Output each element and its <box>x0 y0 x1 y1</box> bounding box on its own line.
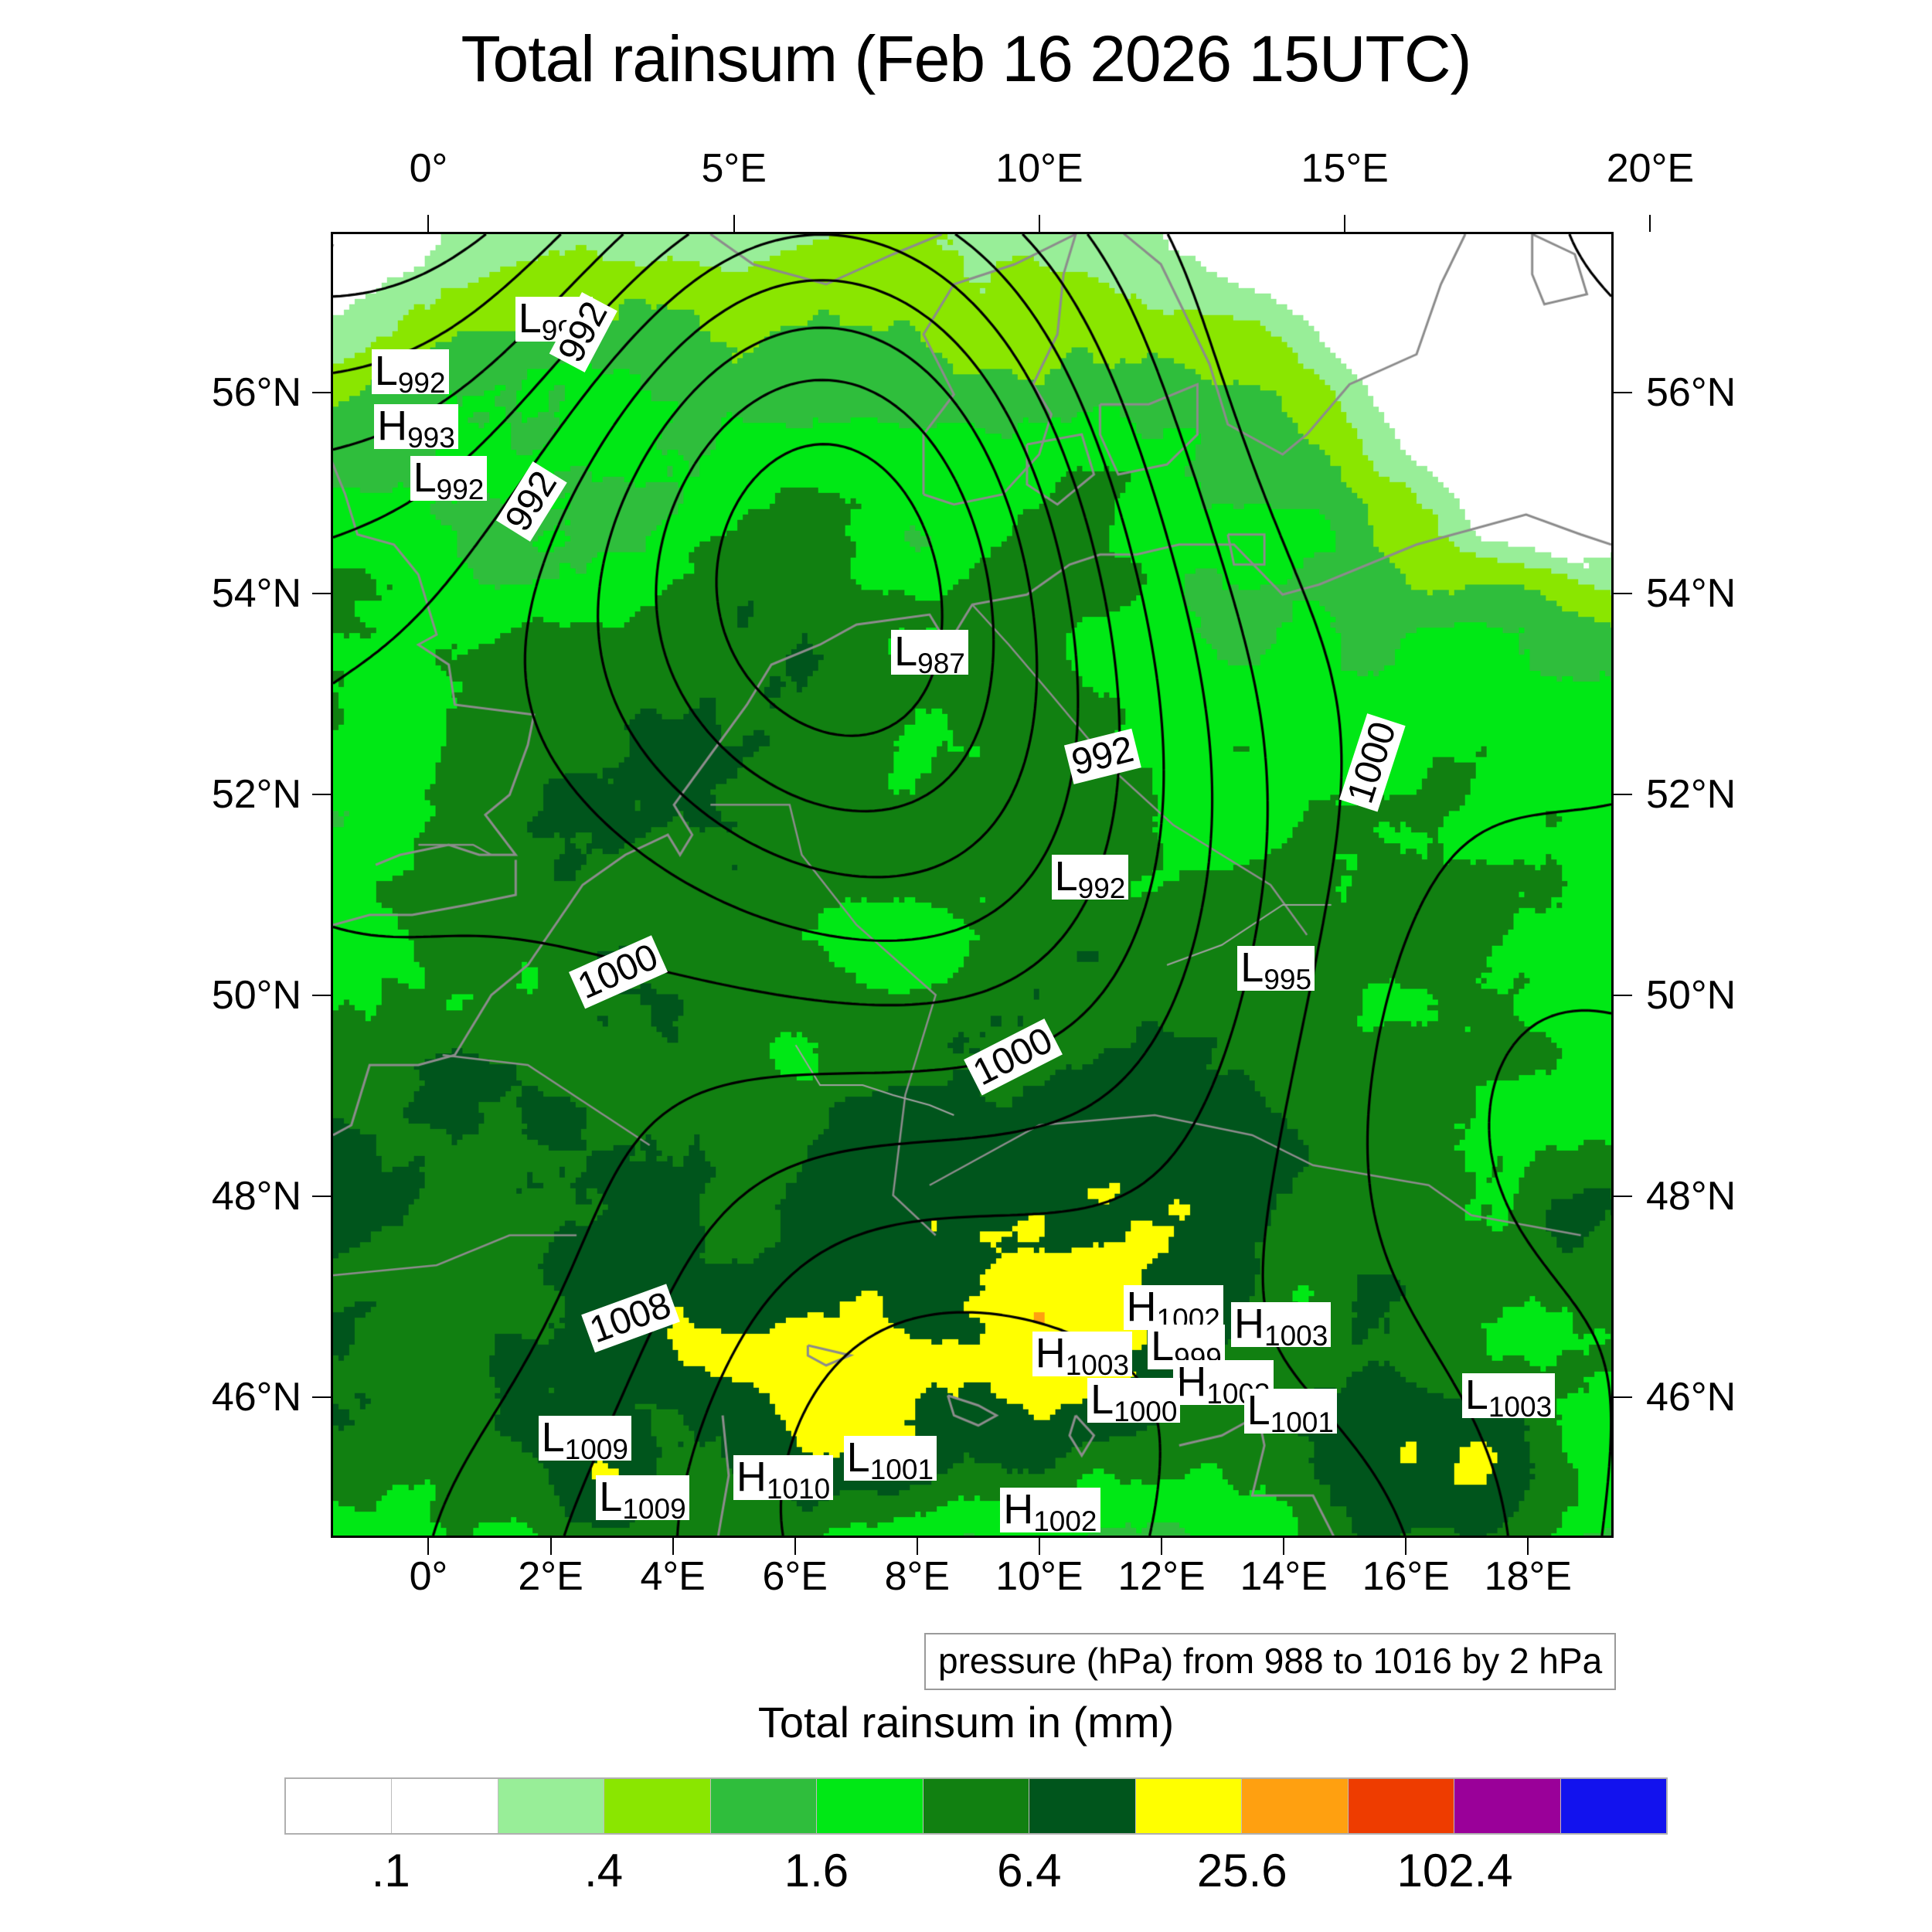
pressure-center-type: L <box>894 628 917 675</box>
axis-tick <box>312 995 331 996</box>
axis-left-label-3: 50°N <box>93 972 301 1019</box>
colorbar-label-102p4: 102.4 <box>1397 1844 1513 1897</box>
colorbar-title: Total rainsum in (mm) <box>0 1697 1932 1747</box>
axis-right-label-4: 48°N <box>1646 1173 1878 1219</box>
axis-tick <box>312 593 331 594</box>
pressure-center-type: L <box>1240 944 1264 991</box>
pressure-center-type: H <box>736 1454 767 1500</box>
axis-tick <box>312 794 331 795</box>
pressure-center-high-1003-b: H1003 <box>1032 1332 1132 1376</box>
axis-tick <box>1614 1196 1632 1197</box>
colorbar-segment-9[interactable] <box>1242 1779 1348 1833</box>
pressure-center-type: L <box>413 454 437 501</box>
axis-tick <box>312 1196 331 1197</box>
colorbar-segment-10[interactable] <box>1349 1779 1454 1833</box>
map-plot-area[interactable]: L992L992H993L992L987L992L995H1002L999H10… <box>331 232 1614 1538</box>
axis-bottom-label-2: 4°E <box>640 1553 705 1600</box>
pressure-center-type: L <box>1151 1323 1174 1369</box>
pressure-center-type: H <box>377 403 407 449</box>
axis-tick <box>1649 215 1651 232</box>
axis-tick <box>672 1538 674 1555</box>
axis-bottom-label-6: 12°E <box>1117 1553 1205 1600</box>
axis-tick <box>1614 1396 1632 1398</box>
colorbar-label-25p6: 25.6 <box>1197 1844 1287 1897</box>
pressure-center-low-987: L987 <box>891 630 968 675</box>
axis-right-label-3: 50°N <box>1646 972 1878 1019</box>
pressure-center-type: L <box>1090 1376 1114 1423</box>
pressure-center-value: 1003 <box>1488 1391 1552 1423</box>
pressure-center-low-992-b: L992 <box>372 349 449 394</box>
pressure-center-high-1010: H1010 <box>733 1455 833 1500</box>
pressure-center-value: 1010 <box>767 1473 830 1505</box>
axis-tick <box>312 392 331 393</box>
colorbar-segment-12[interactable] <box>1561 1779 1666 1833</box>
pressure-center-type: L <box>542 1414 565 1461</box>
axis-top-label-4: 20°E <box>1607 145 1694 192</box>
colorbar-segment-0[interactable] <box>286 1779 392 1833</box>
pressure-center-value: 993 <box>407 422 455 454</box>
pressure-center-value: 1003 <box>1264 1320 1328 1352</box>
colorbar-segment-11[interactable] <box>1454 1779 1560 1833</box>
axis-top-label-0: 0° <box>410 145 448 192</box>
axis-bottom-label-1: 2°E <box>518 1553 583 1600</box>
axis-tick <box>427 1538 429 1555</box>
axis-top-label-3: 15°E <box>1301 145 1389 192</box>
colorbar-segment-7[interactable] <box>1029 1779 1135 1833</box>
pressure-center-value: 1009 <box>622 1493 685 1525</box>
pressure-center-value: 992 <box>437 474 485 505</box>
axis-bottom-label-4: 8°E <box>885 1553 950 1600</box>
pressure-center-high-1002-b: H1002 <box>1000 1488 1100 1532</box>
axis-tick <box>1344 215 1345 232</box>
axis-left-label-2: 52°N <box>93 771 301 818</box>
pressure-center-low-1003: L1003 <box>1462 1373 1555 1418</box>
colorbar-segment-2[interactable] <box>498 1779 604 1833</box>
axis-bottom-label-8: 16°E <box>1362 1553 1450 1600</box>
axis-top-label-1: 5°E <box>702 145 767 192</box>
axis-right-label-1: 54°N <box>1646 570 1878 617</box>
colorbar-segment-1[interactable] <box>392 1779 498 1833</box>
pressure-center-type: L <box>1465 1372 1488 1418</box>
axis-top-label-2: 10°E <box>995 145 1083 192</box>
axis-bottom-label-0: 0° <box>410 1553 448 1600</box>
pressure-center-type: L <box>1055 853 1078 900</box>
axis-right-label-0: 56°N <box>1646 369 1878 416</box>
pressure-center-type: L <box>599 1474 622 1520</box>
colorbar-label-p1: .1 <box>372 1844 410 1897</box>
pressure-center-type: H <box>1176 1359 1206 1405</box>
pressure-center-low-992-c: L992 <box>410 456 488 501</box>
pressure-center-high-993: H993 <box>374 404 458 449</box>
axis-tick <box>427 215 429 232</box>
pressure-center-low-1000: L1000 <box>1087 1378 1180 1423</box>
pressure-center-low-1001-b: L1001 <box>844 1436 937 1481</box>
pressure-center-low-995: L995 <box>1237 946 1315 991</box>
colorbar-segment-3[interactable] <box>604 1779 710 1833</box>
pressure-center-low-1009-a: L1009 <box>539 1416 631 1461</box>
pressure-center-value: 1003 <box>1066 1349 1129 1381</box>
colorbar-label-6p4: 6.4 <box>997 1844 1061 1897</box>
axis-tick <box>1039 215 1040 232</box>
pressure-center-type: H <box>1234 1301 1264 1347</box>
colorbar-segment-6[interactable] <box>923 1779 1029 1833</box>
axis-tick <box>312 1396 331 1398</box>
pressure-center-value: 1001 <box>870 1454 934 1485</box>
axis-left-label-1: 54°N <box>93 570 301 617</box>
axis-tick <box>794 1538 796 1555</box>
pressure-center-low-1009-b: L1009 <box>596 1475 689 1520</box>
colorbar-label-1p6: 1.6 <box>784 1844 849 1897</box>
pressure-center-value: 1002 <box>1033 1505 1097 1537</box>
pressure-center-type: L <box>519 295 542 342</box>
axis-tick <box>550 1538 552 1555</box>
pressure-legend-box: pressure (hPa) from 988 to 1016 by 2 hPa <box>924 1633 1616 1690</box>
colorbar-label-p4: .4 <box>584 1844 623 1897</box>
pressure-center-value: 995 <box>1264 964 1311 995</box>
colorbar-segment-5[interactable] <box>817 1779 923 1833</box>
axis-left-label-0: 56°N <box>93 369 301 416</box>
pressure-center-value: 992 <box>398 367 446 399</box>
axis-tick <box>733 215 735 232</box>
axis-bottom-label-7: 14°E <box>1240 1553 1327 1600</box>
axis-tick <box>1614 593 1632 594</box>
axis-tick <box>1614 794 1632 795</box>
axis-bottom-label-5: 10°E <box>995 1553 1083 1600</box>
pressure-center-value: 1009 <box>565 1434 628 1465</box>
axis-tick <box>1283 1538 1284 1555</box>
axis-tick <box>1614 392 1632 393</box>
rainsum-heatmap-canvas <box>333 234 1611 1536</box>
axis-right-label-5: 46°N <box>1646 1374 1878 1420</box>
axis-tick <box>1527 1538 1529 1555</box>
pressure-center-value: 1001 <box>1270 1406 1334 1438</box>
page-title: Total rainsum (Feb 16 2026 15UTC) <box>0 22 1932 97</box>
pressure-center-type: L <box>1247 1387 1270 1434</box>
pressure-center-type: H <box>1003 1486 1033 1532</box>
pressure-center-low-992-d: L992 <box>1052 855 1129 900</box>
pressure-center-value: 1000 <box>1114 1396 1177 1427</box>
colorbar-segment-4[interactable] <box>711 1779 817 1833</box>
pressure-center-type: H <box>1036 1330 1066 1376</box>
axis-tick <box>1614 995 1632 996</box>
colorbar[interactable] <box>284 1777 1668 1835</box>
axis-bottom-label-3: 6°E <box>763 1553 828 1600</box>
axis-tick <box>1161 1538 1162 1555</box>
pressure-center-value: 992 <box>1078 872 1126 904</box>
axis-left-label-5: 46°N <box>93 1374 301 1420</box>
axis-tick <box>1039 1538 1040 1555</box>
pressure-center-type: L <box>375 348 398 394</box>
pressure-center-type: L <box>847 1434 870 1481</box>
pressure-center-low-1001-a: L1001 <box>1244 1389 1337 1434</box>
axis-tick <box>917 1538 918 1555</box>
colorbar-segment-8[interactable] <box>1136 1779 1242 1833</box>
axis-left-label-4: 48°N <box>93 1173 301 1219</box>
axis-right-label-2: 52°N <box>1646 771 1878 818</box>
axis-bottom-label-9: 18°E <box>1485 1553 1572 1600</box>
pressure-center-value: 987 <box>917 648 965 679</box>
pressure-center-high-1003-a: H1003 <box>1231 1302 1331 1347</box>
axis-tick <box>1405 1538 1406 1555</box>
